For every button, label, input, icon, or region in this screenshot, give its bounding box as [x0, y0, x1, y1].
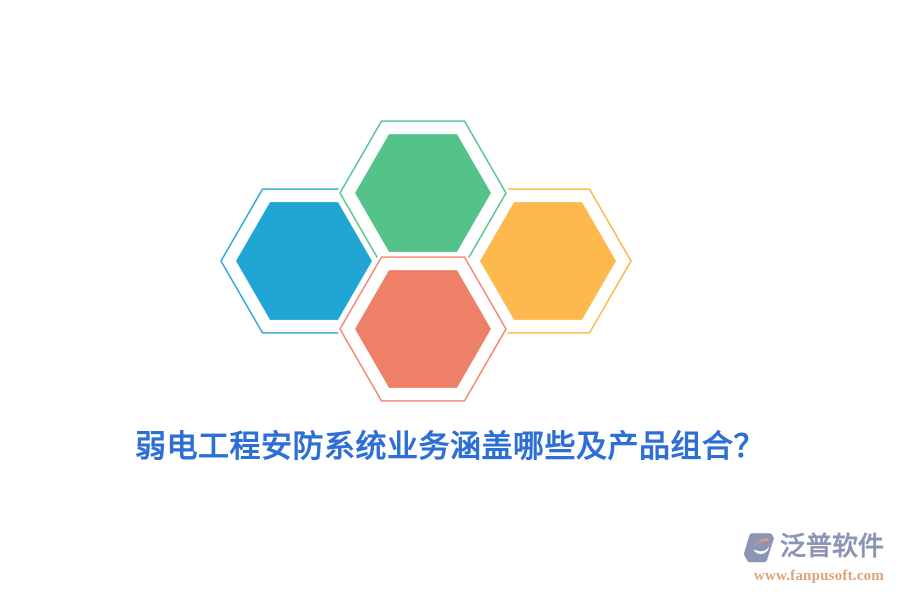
page-title-container: 弱电工程安防系统业务涵盖哪些及产品组合？ — [0, 428, 900, 467]
brand-logo-row: 泛普软件 — [744, 528, 884, 566]
brand-name: 泛普软件 — [780, 532, 884, 562]
brand-logo: 泛普软件 www.fanpusoft.com — [744, 528, 884, 592]
hexagon-cluster-graphic — [0, 0, 900, 430]
brand-url: www.fanpusoft.com — [744, 567, 884, 585]
fanpu-hexagon-logo-icon — [743, 530, 777, 564]
poster-canvas: 弱电工程安防系统业务涵盖哪些及产品组合？ 泛普软件 www.fanpusoft.… — [0, 0, 900, 600]
hexagon-right-orange-core — [480, 202, 616, 320]
page-title: 弱电工程安防系统业务涵盖哪些及产品组合？ — [135, 428, 765, 467]
